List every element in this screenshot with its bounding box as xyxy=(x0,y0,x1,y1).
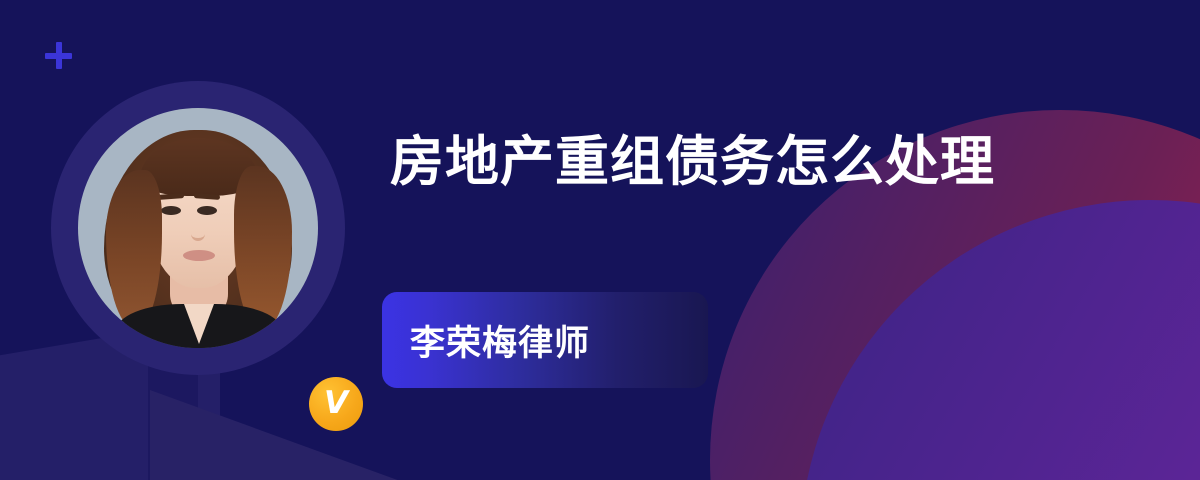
portrait-eye-right xyxy=(197,206,217,215)
portrait-nose xyxy=(191,220,205,241)
lawyer-qa-banner: V 房地产重组债务怎么处理 李荣梅律师 xyxy=(0,0,1200,480)
lawyer-name-button[interactable]: 李荣梅律师 xyxy=(382,292,708,388)
avatar: V xyxy=(51,81,345,375)
avatar-photo xyxy=(78,108,318,348)
plus-icon xyxy=(45,42,72,69)
portrait-eye-left xyxy=(161,206,181,215)
verified-badge-icon: V xyxy=(309,377,363,431)
verified-badge-glyph: V xyxy=(324,388,348,419)
portrait-mouth xyxy=(183,250,215,261)
lawyer-name-label: 李荣梅律师 xyxy=(410,315,590,366)
page-title: 房地产重组债务怎么处理 xyxy=(390,132,995,192)
